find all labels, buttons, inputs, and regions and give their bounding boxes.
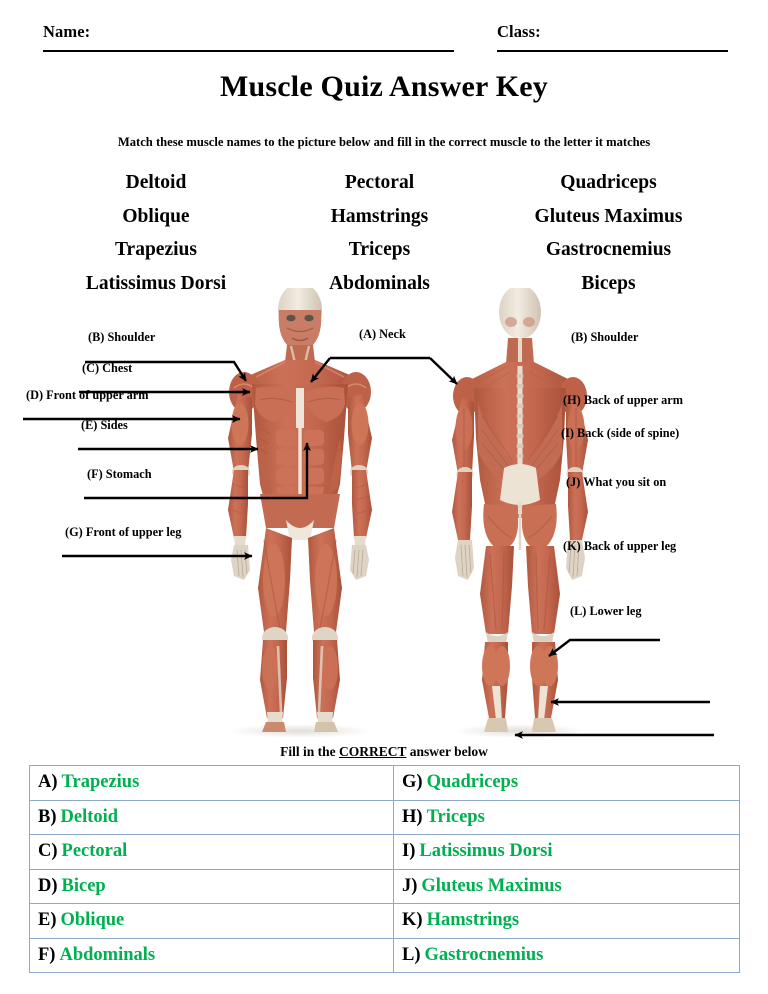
- answer-value: Gastrocnemius: [425, 945, 544, 965]
- answer-letter: B): [38, 807, 57, 827]
- table-row: A) Trapezius G) Quadriceps: [30, 766, 740, 801]
- anatomy-figure-svg: [0, 288, 768, 743]
- table-row: D) Bicep J) Gluteus Maximus: [30, 869, 740, 904]
- answer-value: Abdominals: [59, 945, 155, 965]
- callout-label-g: (G) Front of upper leg: [65, 525, 181, 539]
- callout-label-e: (E) Sides: [81, 418, 128, 432]
- answer-cell-g[interactable]: G) Quadriceps: [394, 766, 740, 801]
- callout-label-c: (C) Chest: [82, 361, 132, 375]
- answer-value: Hamstrings: [427, 910, 520, 930]
- word-bank-item: Gastrocnemius: [487, 233, 730, 267]
- answer-letter: J): [402, 876, 417, 896]
- callout-label-k: (K) Back of upper leg: [563, 539, 676, 553]
- header-fields: Name: Class:: [0, 22, 768, 56]
- answer-letter: D): [38, 876, 58, 896]
- table-row: F) Abdominals L) Gastrocnemius: [30, 938, 740, 973]
- callout-label-h: (H) Back of upper arm: [563, 393, 683, 407]
- fill-in-subtitle: Fill in the CORRECT answer below: [0, 744, 768, 760]
- answer-table: A) Trapezius G) Quadriceps B) Deltoid H)…: [29, 765, 740, 973]
- answer-value: Triceps: [427, 807, 485, 827]
- word-bank-item: Pectoral: [272, 166, 487, 200]
- answer-letter: F): [38, 945, 55, 965]
- instruction-text: Match these muscle names to the picture …: [0, 135, 768, 150]
- word-bank-item: Deltoid: [40, 166, 272, 200]
- callout-label-a: (A) Neck: [359, 327, 406, 341]
- answer-letter: L): [402, 945, 421, 965]
- word-bank-item: Gluteus Maximus: [487, 200, 730, 234]
- front-figure: [228, 288, 372, 732]
- word-bank-item: Triceps: [272, 233, 487, 267]
- answer-cell-j[interactable]: J) Gluteus Maximus: [394, 869, 740, 904]
- word-bank-column-3: Quadriceps Gluteus Maximus Gastrocnemius…: [487, 166, 730, 300]
- word-bank-column-2: Pectoral Hamstrings Triceps Abdominals: [272, 166, 487, 300]
- answer-cell-b[interactable]: B) Deltoid: [30, 800, 394, 835]
- answer-value: Pectoral: [62, 841, 128, 861]
- class-field[interactable]: Class:: [497, 22, 728, 52]
- callout-label-l: (L) Lower leg: [570, 604, 642, 618]
- word-bank-column-1: Deltoid Oblique Trapezius Latissimus Dor…: [40, 166, 272, 300]
- answer-cell-c[interactable]: C) Pectoral: [30, 835, 394, 870]
- table-row: B) Deltoid H) Triceps: [30, 800, 740, 835]
- answer-value: Bicep: [62, 876, 106, 896]
- answer-letter: I): [402, 841, 415, 861]
- answer-letter: A): [38, 772, 58, 792]
- word-bank-item: Oblique: [40, 200, 272, 234]
- name-label: Name:: [43, 22, 454, 41]
- answer-value: Deltoid: [61, 807, 119, 827]
- fill-in-before: Fill in the: [280, 744, 339, 759]
- callout-label-f: (F) Stomach: [87, 467, 152, 481]
- page-title: Muscle Quiz Answer Key: [0, 70, 768, 104]
- answer-cell-l[interactable]: L) Gastrocnemius: [394, 938, 740, 973]
- answer-cell-h[interactable]: H) Triceps: [394, 800, 740, 835]
- class-label: Class:: [497, 22, 728, 41]
- answer-letter: K): [402, 910, 423, 930]
- table-row: C) Pectoral I) Latissimus Dorsi: [30, 835, 740, 870]
- answer-cell-f[interactable]: F) Abdominals: [30, 938, 394, 973]
- back-figure: [452, 288, 588, 732]
- answer-cell-e[interactable]: E) Oblique: [30, 904, 394, 939]
- fill-in-emphasis: CORRECT: [339, 744, 406, 759]
- name-rule: [43, 50, 454, 52]
- answer-letter: C): [38, 841, 58, 861]
- answer-cell-k[interactable]: K) Hamstrings: [394, 904, 740, 939]
- answer-cell-a[interactable]: A) Trapezius: [30, 766, 394, 801]
- callout-label-j: (J) What you sit on: [566, 475, 666, 489]
- fill-in-after: answer below: [406, 744, 488, 759]
- callout-label-b-right: (B) Shoulder: [571, 330, 638, 344]
- answer-value: Oblique: [61, 910, 125, 930]
- answer-cell-i[interactable]: I) Latissimus Dorsi: [394, 835, 740, 870]
- callout-label-i: (I) Back (side of spine): [561, 426, 679, 440]
- answer-letter: E): [38, 910, 57, 930]
- anatomy-diagram: (B) Shoulder (C) Chest (D) Front of uppe…: [0, 288, 768, 743]
- answer-letter: H): [402, 807, 423, 827]
- word-bank-item: Hamstrings: [272, 200, 487, 234]
- name-field[interactable]: Name:: [43, 22, 454, 52]
- answer-value: Quadriceps: [427, 772, 518, 792]
- callout-label-d: (D) Front of upper arm: [26, 388, 149, 402]
- answer-letter: G): [402, 772, 423, 792]
- class-rule: [497, 50, 728, 52]
- callout-label-b-left: (B) Shoulder: [88, 330, 155, 344]
- word-bank: Deltoid Oblique Trapezius Latissimus Dor…: [40, 166, 730, 300]
- word-bank-item: Trapezius: [40, 233, 272, 267]
- answer-value: Gluteus Maximus: [421, 876, 561, 896]
- answer-value: Trapezius: [62, 772, 140, 792]
- table-row: E) Oblique K) Hamstrings: [30, 904, 740, 939]
- answer-cell-d[interactable]: D) Bicep: [30, 869, 394, 904]
- word-bank-item: Quadriceps: [487, 166, 730, 200]
- answer-value: Latissimus Dorsi: [419, 841, 552, 861]
